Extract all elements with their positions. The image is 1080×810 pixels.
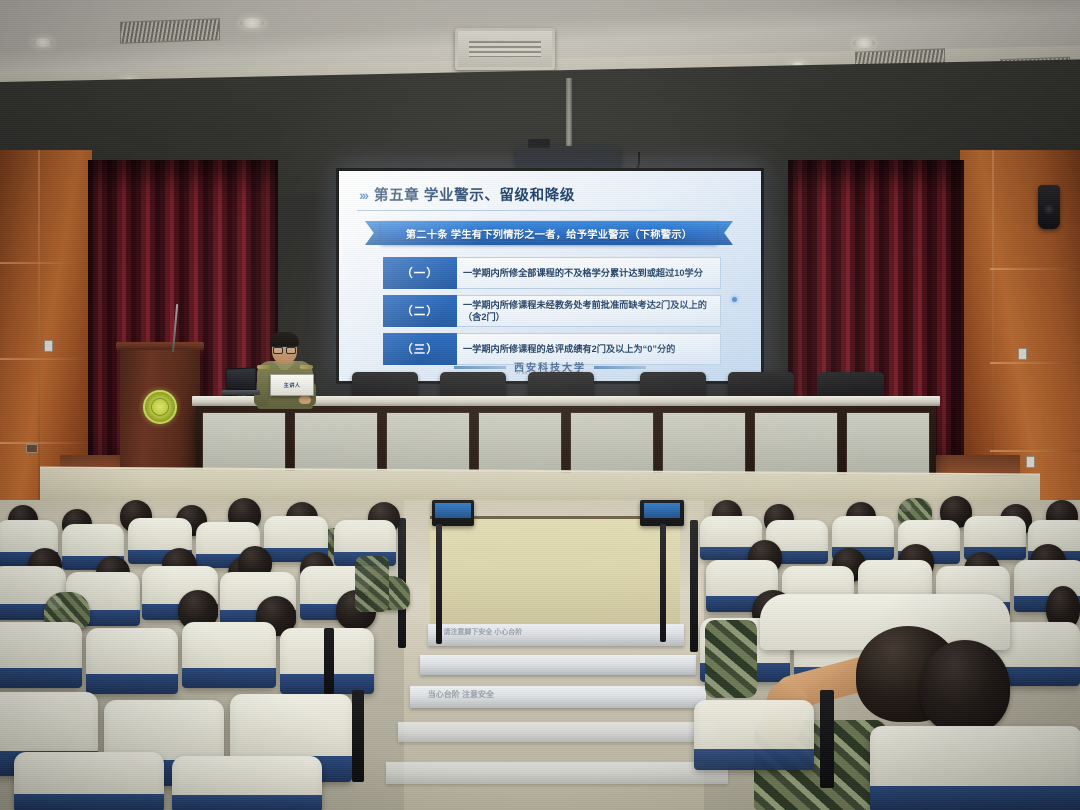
auditorium-seat[interactable] [172,756,322,810]
downlight-icon [853,38,875,48]
slide-title-row: ››› 第五章 学业警示、留级和降级 [359,184,747,205]
auditorium-seat[interactable] [86,628,178,694]
seat-divider [820,690,834,788]
bullet-marker: （一） [383,257,457,289]
aisle-railing-right [690,520,698,652]
table-panel [662,412,746,478]
footer-bar-left [454,366,506,369]
audience-head [920,640,1010,734]
hand [299,396,311,404]
wood-seam [990,268,1080,270]
light-switch[interactable] [1026,456,1035,468]
glasses-icon [273,346,296,352]
chevron-right-icon: ››› [359,187,367,203]
auditorium-seat[interactable] [694,700,814,770]
bullet-text: 一学期内所修课程未经教务处考前批准而缺考达2门及以上的（含2门） [457,295,721,327]
wood-seam [0,262,92,264]
step-safety-text: 请注意脚下安全 小心台阶 [443,627,522,637]
slide-chapter-title: 第五章 学业警示、留级和降级 [374,184,575,205]
camouflage-backpack [355,556,389,612]
projector-mount-pole [566,78,572,148]
stage-riser-wall [430,516,680,626]
wall-outlet[interactable] [26,444,38,453]
stair-step [420,655,696,675]
table-panel [478,412,562,478]
ribbon-tail-right [717,221,733,245]
downlight-icon [240,18,264,28]
wood-seam [0,358,92,360]
light-switch[interactable] [1018,348,1027,360]
aisle-monitor-right [640,500,684,526]
name-placard: 主讲人 [270,374,314,396]
projection-screen: ››› 第五章 学业警示、留级和降级 第二十条 学生有下列情形之一者，给予学业警… [336,168,764,384]
aisle-post [436,524,442,644]
name-placard-text: 主讲人 [284,382,301,389]
camouflage-backpack [705,620,757,698]
list-item: （一） 一学期内所修全部课程的不及格学分累计达到或超过10学分 [383,257,721,289]
podium-top-surface [116,342,204,350]
wood-seam [990,362,1080,364]
ribbon-tail-left [365,221,381,245]
slide-ribbon-banner: 第二十条 学生有下列情形之一者，给予学业警示（下称警示） [381,221,717,245]
slide-bullet-list: （一） 一学期内所修全部课程的不及格学分累计达到或超过10学分 （二） 一学期内… [383,257,721,371]
bullet-marker: （二） [383,295,457,327]
table-panel [754,412,838,478]
list-item: （二） 一学期内所修课程未经教务处考前批准而缺考达2门及以上的（含2门） [383,295,721,327]
slide-decorative-dot [732,297,737,302]
ac-cassette-unit [455,28,555,70]
ribbon-label: 第二十条 学生有下列情形之一者，给予学业警示（下称警示） [406,226,692,241]
ac-vent-icon [120,18,220,43]
wall-speaker-icon [1038,185,1060,229]
stair-step: 当心台阶 注意安全 [410,686,706,708]
presentation-slide: ››› 第五章 学业警示、留级和降级 第二十条 学生有下列情形之一者，给予学业警… [339,171,761,381]
wood-seam [990,450,1080,452]
university-crest-icon [143,390,177,424]
laptop[interactable] [222,368,258,396]
epaulet [257,365,270,369]
stair-step [386,762,728,784]
laptop-keyboard[interactable] [222,390,260,395]
epaulet [300,365,313,369]
auditorium-seat[interactable] [14,752,164,810]
auditorium-photo: ››› 第五章 学业警示、留级和降级 第二十条 学生有下列情形之一者，给予学业警… [0,0,1080,810]
table-panel [846,412,930,478]
table-panel [570,412,654,478]
title-divider [357,210,745,211]
hair [270,332,299,347]
stair-step [398,722,716,742]
aisle-post [660,524,666,642]
stair-step: 请注意脚下安全 小心台阶 [428,624,684,646]
downlight-icon [33,38,53,47]
lectern-podium [120,348,200,470]
auditorium-seat[interactable] [0,622,82,688]
light-switch[interactable] [44,340,53,352]
seat-divider [324,628,334,694]
seat-divider [352,690,364,782]
wood-seam [38,150,40,510]
aisle-monitor-left [432,500,474,526]
auditorium-seat[interactable] [182,622,276,688]
bullet-text: 一学期内所修全部课程的不及格学分累计达到或超过10学分 [457,257,721,289]
footer-bar-right [594,366,646,369]
laptop-screen [226,367,257,391]
wood-seam [0,442,92,444]
auditorium-seat[interactable] [870,726,1080,810]
step-safety-text: 当心台阶 注意安全 [428,689,494,700]
